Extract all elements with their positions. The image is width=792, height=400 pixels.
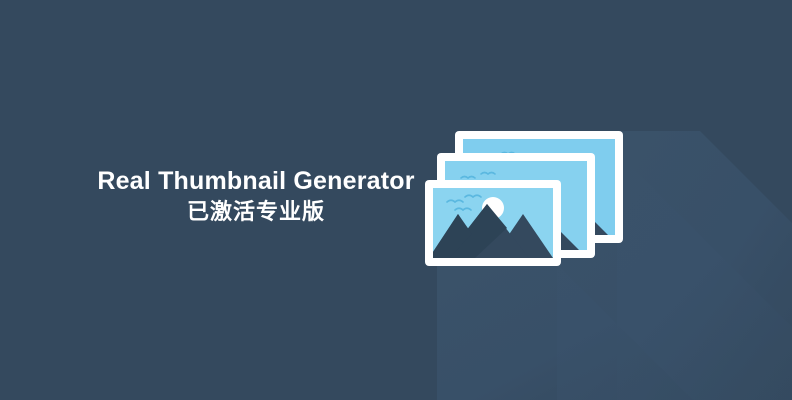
stacked-photos-icon <box>425 118 655 278</box>
page-title: Real Thumbnail Generator <box>86 166 426 196</box>
front-frame <box>425 180 561 266</box>
title-block: Real Thumbnail Generator 已激活专业版 <box>86 166 426 226</box>
page-subtitle: 已激活专业版 <box>86 198 426 226</box>
app-banner: Real Thumbnail Generator 已激活专业版 <box>0 0 792 400</box>
